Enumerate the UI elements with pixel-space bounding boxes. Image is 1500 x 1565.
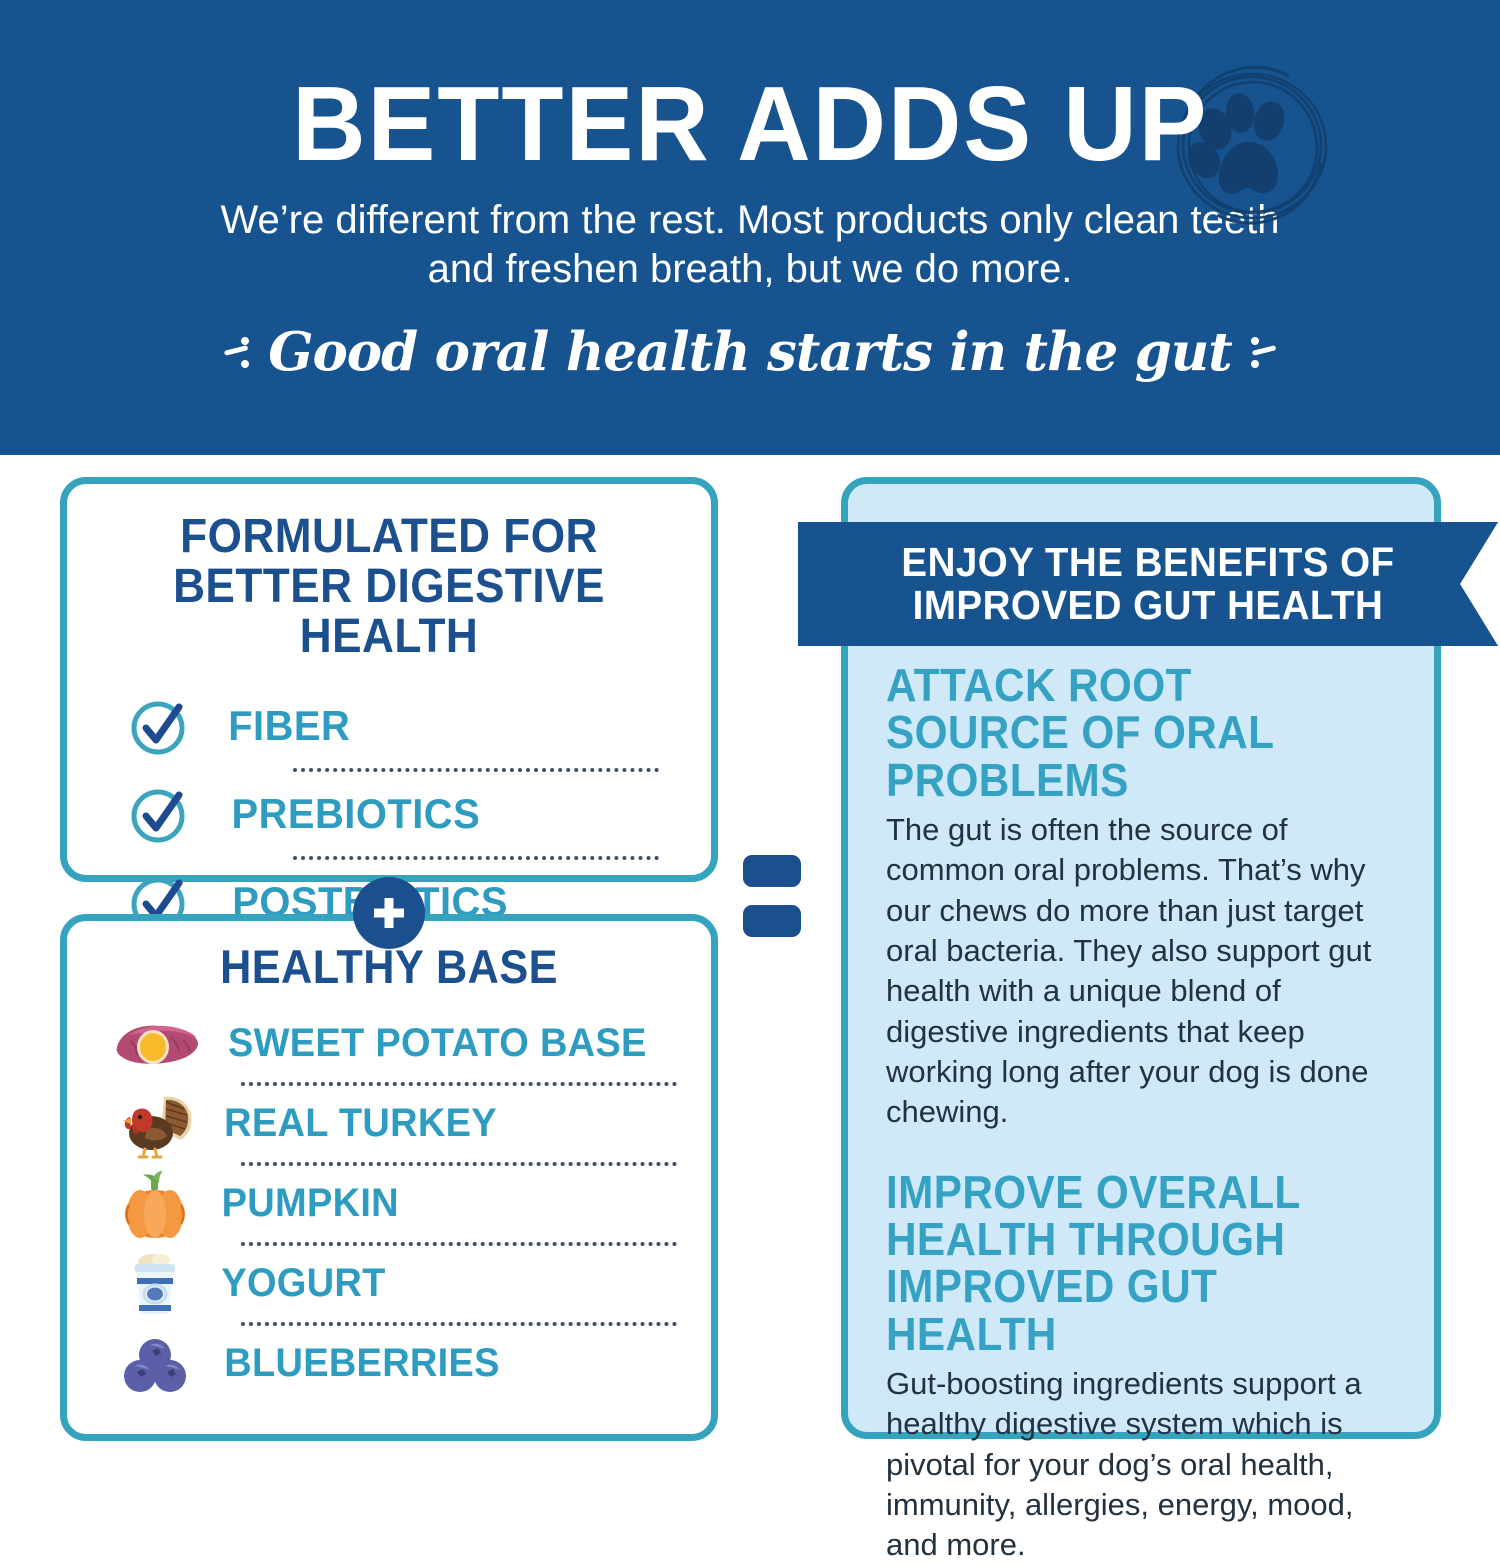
benefits-ribbon: ENJOY THE BENEFITS OF IMPROVED GUT HEALT… [798,522,1498,646]
pumpkin-icon [109,1170,201,1238]
divider [293,856,659,860]
page-title: BETTER ADDS UP [292,76,1208,174]
list-item-label: FIBER [228,702,350,750]
list-item-label: YOGURT [221,1261,385,1306]
content-stage: FORMULATED FOR BETTER DIGESTIVE HEALTH F… [0,455,1500,1464]
hero-script-row: Good oral health starts in the gut [224,321,1276,383]
divider [241,1242,677,1246]
healthy-base-card-title: HEALTHY BASE [115,943,663,992]
benefits-ribbon-text: ENJOY THE BENEFITS OF IMPROVED GUT HEALT… [819,522,1477,646]
section-body: Gut-boosting ingredients support a healt… [886,1364,1400,1565]
hero-header: BETTER ADDS UP We’re dif [0,0,1500,455]
list-item-label: REAL TURKEY [224,1101,497,1146]
equals-icon [743,855,801,937]
section-heading: IMPROVE OVERALL HEALTH THROUGH IMPROVED … [886,1169,1359,1359]
list-item[interactable]: FIBER [91,684,687,768]
divider [241,1322,677,1326]
section-heading: ATTACK ROOT SOURCE OF ORAL PROBLEMS [886,662,1359,804]
divider [293,768,659,772]
check-circle-icon [129,784,189,844]
healthy-base-card: HEALTHY BASE [60,914,718,1441]
divider [241,1082,677,1086]
ribbon-line-1: ENJOY THE BENEFITS OF [901,541,1394,584]
list-item[interactable]: BLUEBERRIES [91,1326,687,1402]
sweet-potato-icon [109,1010,201,1078]
formulated-card-title: FORMULATED FOR BETTER DIGESTIVE HEALTH [115,512,663,662]
flourish-right-icon [1246,323,1276,381]
list-item-label: PUMPKIN [222,1181,399,1226]
hero-script-line: Good oral health starts in the gut [268,321,1232,383]
ingredient-list: SWEET POTATO BASE [91,1006,687,1402]
formulated-card: FORMULATED FOR BETTER DIGESTIVE HEALTH F… [60,477,718,882]
divider [241,1162,677,1166]
list-item[interactable]: REAL TURKEY [91,1086,687,1162]
list-item-label: PREBIOTICS [232,790,481,838]
equals-bar-top [743,855,801,887]
list-item-label: SWEET POTATO BASE [228,1021,647,1066]
list-item[interactable]: YOGURT [91,1246,687,1322]
benefits-content: ATTACK ROOT SOURCE OF ORAL PROBLEMS The … [848,484,1434,1565]
yogurt-cup-icon [109,1250,201,1318]
hero-subtitle: We’re different from the rest. Most prod… [185,196,1315,295]
turkey-icon [109,1090,201,1158]
equals-bar-bottom [743,905,801,937]
blueberries-icon [109,1330,201,1398]
ribbon-line-2: IMPROVED GUT HEALTH [913,584,1384,627]
check-circle-icon [129,696,189,756]
section-body: The gut is often the source of common or… [886,810,1400,1132]
list-item[interactable]: PUMPKIN [91,1166,687,1242]
list-item-label: BLUEBERRIES [224,1341,500,1386]
list-item[interactable]: SWEET POTATO BASE [91,1006,687,1082]
list-item[interactable]: PREBIOTICS [91,772,687,856]
plus-icon [353,877,425,949]
benefits-panel: ENJOY THE BENEFITS OF IMPROVED GUT HEALT… [841,477,1441,1439]
flourish-left-icon [224,323,254,381]
left-column: FORMULATED FOR BETTER DIGESTIVE HEALTH F… [60,477,718,1441]
